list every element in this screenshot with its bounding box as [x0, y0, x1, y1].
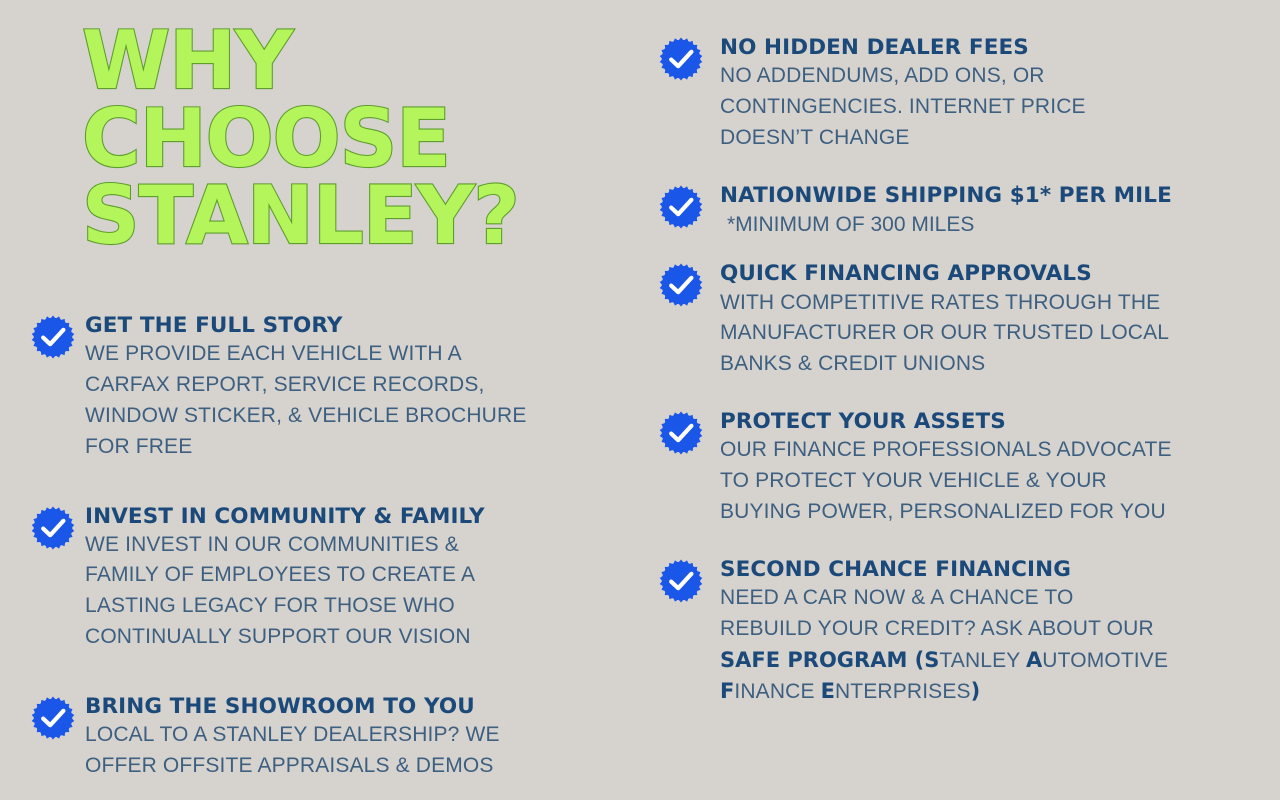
- verified-check-badge-icon: [658, 36, 704, 82]
- benefit-description: NEED A CAR NOW & A CHANCE TOREBUILD YOUR…: [720, 583, 1280, 708]
- benefit-description-line: BANKS & CREDIT UNIONS: [720, 349, 1280, 380]
- benefits-column-left: GET THE FULL STORYWE PROVIDE EACH VEHICL…: [0, 0, 628, 390]
- benefit-body: PROTECT YOUR ASSETSOUR FINANCE PROFESSIO…: [720, 408, 1280, 528]
- benefit-description-line: OUR FINANCE PROFESSIONALS ADVOCATE: [720, 435, 1280, 466]
- verified-check-badge-icon: [30, 505, 76, 551]
- benefit-description-line: NEED A CAR NOW & A CHANCE TO: [720, 583, 1280, 614]
- verified-check-badge-icon: [30, 695, 76, 741]
- benefit-description-segment: INANCE: [734, 680, 820, 703]
- benefit-description-line: CARFAX REPORT, SERVICE RECORDS,: [85, 370, 628, 401]
- benefit-title: INVEST IN COMMUNITY & FAMILY: [85, 503, 628, 530]
- benefit-description-segment: ): [971, 679, 981, 703]
- benefit-body: BRING THE SHOWROOM TO YOULOCAL TO A STAN…: [85, 693, 628, 782]
- benefit-note: *MINIMUM OF 300 MILES: [720, 210, 1280, 241]
- benefit-body: QUICK FINANCING APPROVALSWITH COMPETITIV…: [720, 260, 1280, 380]
- benefit-description-line: WINDOW STICKER, & VEHICLE BROCHURE: [85, 401, 628, 432]
- benefit-description: WE PROVIDE EACH VEHICLE WITH ACARFAX REP…: [85, 339, 628, 462]
- benefit-body: GET THE FULL STORYWE PROVIDE EACH VEHICL…: [85, 312, 628, 463]
- benefit-description-line: DOESN’T CHANGE: [720, 123, 1280, 154]
- benefit-description-line: SAFE PROGRAM (STANLEY AUTOMOTIVE: [720, 645, 1280, 677]
- benefit-item: BRING THE SHOWROOM TO YOULOCAL TO A STAN…: [0, 693, 628, 782]
- benefit-description-line: CONTINGENCIES. INTERNET PRICE: [720, 92, 1280, 123]
- benefit-body: INVEST IN COMMUNITY & FAMILYWE INVEST IN…: [85, 503, 628, 654]
- verified-check-badge-icon: [658, 558, 704, 604]
- benefit-description-line: NO ADDENDUMS, ADD ONS, OR: [720, 61, 1280, 92]
- benefit-description-line: BUYING POWER, PERSONALIZED FOR YOU: [720, 497, 1280, 528]
- benefit-description-line: REBUILD YOUR CREDIT? ASK ABOUT OUR: [720, 614, 1280, 645]
- verified-check-badge-icon: [658, 262, 704, 308]
- benefit-body: NATIONWIDE SHIPPING $1* PER MILE*MINIMUM…: [720, 182, 1280, 241]
- benefit-item: QUICK FINANCING APPROVALSWITH COMPETITIV…: [640, 260, 1280, 380]
- benefit-title: QUICK FINANCING APPROVALS: [720, 260, 1280, 287]
- why-choose-stanley-poster: WHY CHOOSE STANLEY? GET THE FULL STORYWE…: [0, 0, 1280, 800]
- benefit-description-line: FINANCE ENTERPRISES): [720, 676, 1280, 708]
- benefit-description: LOCAL TO A STANLEY DEALERSHIP? WEOFFER O…: [85, 720, 628, 782]
- benefit-body: SECOND CHANCE FINANCINGNEED A CAR NOW & …: [720, 556, 1280, 709]
- benefit-description: WITH COMPETITIVE RATES THROUGH THEMANUFA…: [720, 288, 1280, 381]
- benefit-item: SECOND CHANCE FINANCINGNEED A CAR NOW & …: [640, 556, 1280, 709]
- benefit-description-line: LASTING LEGACY FOR THOSE WHO: [85, 591, 628, 622]
- benefit-description-segment: A: [1026, 648, 1042, 672]
- benefit-description-segment: E: [821, 679, 835, 703]
- benefit-description-line: FOR FREE: [85, 432, 628, 463]
- benefit-item: NATIONWIDE SHIPPING $1* PER MILE*MINIMUM…: [640, 182, 1280, 241]
- benefit-title: NO HIDDEN DEALER FEES: [720, 34, 1280, 61]
- benefit-description: OUR FINANCE PROFESSIONALS ADVOCATETO PRO…: [720, 435, 1280, 528]
- benefit-description-line: FAMILY OF EMPLOYEES TO CREATE A: [85, 560, 628, 591]
- benefit-description-line: LOCAL TO A STANLEY DEALERSHIP? WE: [85, 720, 628, 751]
- benefit-description-line: OFFER OFFSITE APPRAISALS & DEMOS: [85, 751, 628, 782]
- benefit-title: BRING THE SHOWROOM TO YOU: [85, 693, 628, 720]
- verified-check-badge-icon: [30, 314, 76, 360]
- benefit-item: PROTECT YOUR ASSETSOUR FINANCE PROFESSIO…: [640, 408, 1280, 528]
- benefit-title: SECOND CHANCE FINANCING: [720, 556, 1280, 583]
- benefit-description-segment: F: [720, 679, 734, 703]
- benefit-description-line: WE PROVIDE EACH VEHICLE WITH A: [85, 339, 628, 370]
- benefit-body: NO HIDDEN DEALER FEESNO ADDENDUMS, ADD O…: [720, 34, 1280, 154]
- benefit-description-segment: TANLEY: [939, 649, 1026, 672]
- benefit-title: GET THE FULL STORY: [85, 312, 628, 339]
- verified-check-badge-icon: [658, 184, 704, 230]
- benefit-description: WE INVEST IN OUR COMMUNITIES &FAMILY OF …: [85, 530, 628, 653]
- benefit-item: NO HIDDEN DEALER FEESNO ADDENDUMS, ADD O…: [640, 34, 1280, 154]
- verified-check-badge-icon: [658, 410, 704, 456]
- benefit-title: NATIONWIDE SHIPPING $1* PER MILE: [720, 182, 1280, 210]
- benefit-description-line: CONTINUALLY SUPPORT OUR VISION: [85, 622, 628, 653]
- benefit-description-line: TO PROTECT YOUR VEHICLE & YOUR: [720, 466, 1280, 497]
- benefit-description-line: WITH COMPETITIVE RATES THROUGH THE: [720, 288, 1280, 319]
- benefit-description-segment: SAFE PROGRAM (S: [720, 648, 939, 672]
- benefit-description-segment: NTERPRISES: [835, 680, 971, 703]
- benefit-description-line: MANUFACTURER OR OUR TRUSTED LOCAL: [720, 318, 1280, 349]
- benefit-description-line: WE INVEST IN OUR COMMUNITIES &: [85, 530, 628, 561]
- benefits-column-right: NO HIDDEN DEALER FEESNO ADDENDUMS, ADD O…: [640, 0, 1280, 570]
- benefit-item: GET THE FULL STORYWE PROVIDE EACH VEHICL…: [0, 312, 628, 463]
- benefit-title: PROTECT YOUR ASSETS: [720, 408, 1280, 435]
- benefit-description-segment: UTOMOTIVE: [1042, 649, 1168, 672]
- benefit-description: NO ADDENDUMS, ADD ONS, ORCONTINGENCIES. …: [720, 61, 1280, 154]
- benefit-item: INVEST IN COMMUNITY & FAMILYWE INVEST IN…: [0, 503, 628, 654]
